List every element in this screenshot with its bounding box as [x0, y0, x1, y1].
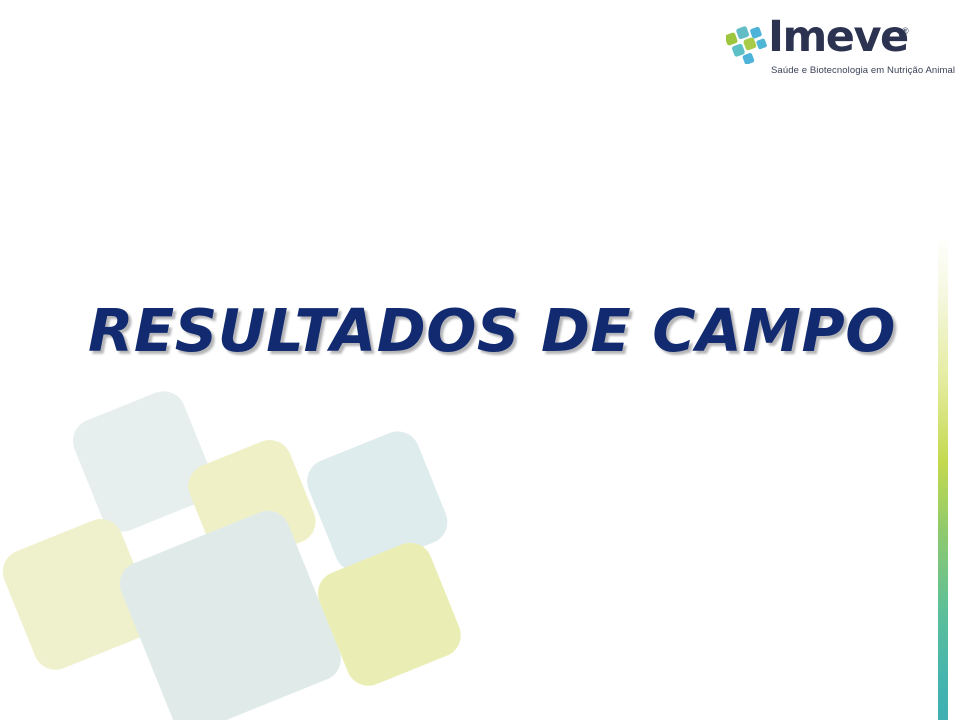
presentation-slide: Imeve ® Saúde e Biotecnologia em Nutriçã…: [0, 0, 960, 720]
deco-square-pale-yellow-bottom: [311, 536, 467, 692]
registered-trademark-symbol: ®: [902, 26, 909, 36]
deco-square-pale-yellow-left: [0, 512, 160, 676]
deco-square-pale-blue-top: [66, 385, 220, 539]
imeve-tagline: Saúde e Biotecnologia em Nutrição Animal: [771, 65, 955, 76]
edge-gradient-bar: [938, 235, 948, 720]
imeve-logo: Imeve ® Saúde e Biotecnologia em Nutriçã…: [726, 20, 926, 82]
deco-square-pale-blue-right: [300, 425, 454, 579]
deco-square-pale-blue-large: [113, 504, 347, 720]
imeve-logo-mark-icon: [726, 22, 770, 64]
slide-title: RESULTADOS DE CAMPO: [88, 300, 888, 362]
imeve-wordmark: Imeve: [768, 16, 908, 59]
deco-square-pale-yellow-small: [182, 433, 323, 574]
